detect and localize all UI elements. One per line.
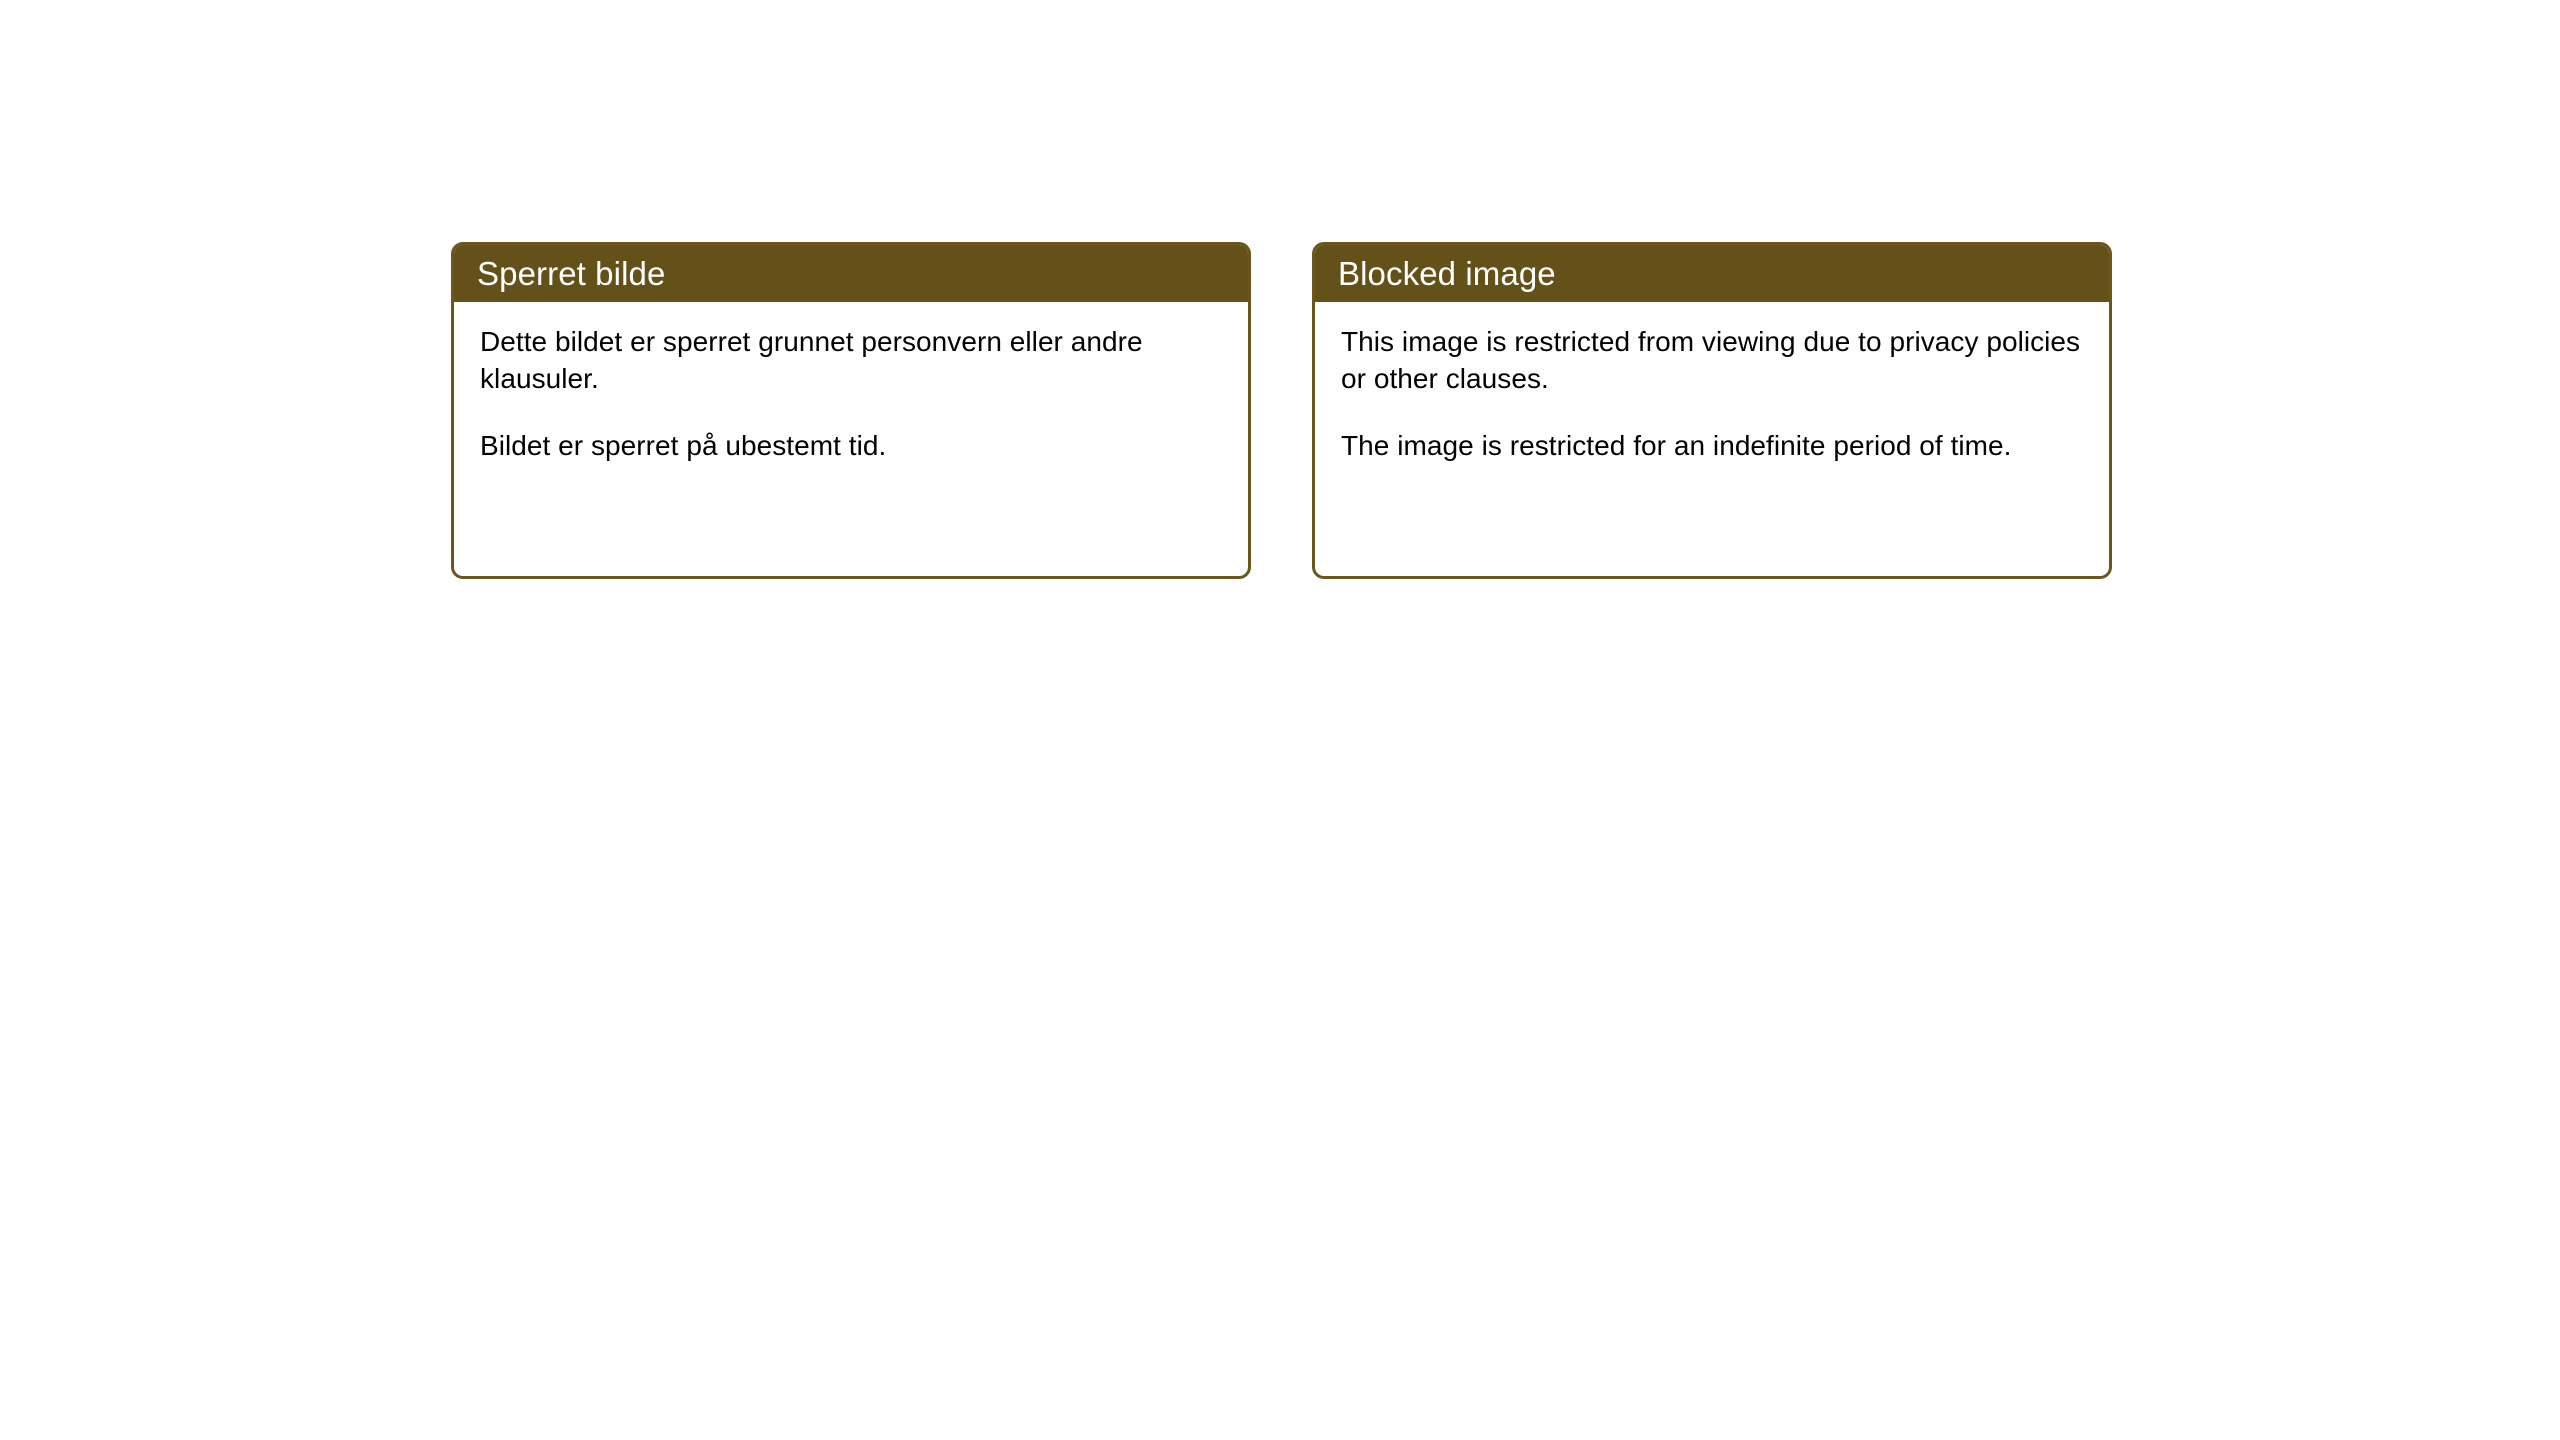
card-paragraph-restriction-reason-en: This image is restricted from viewing du…: [1341, 324, 2083, 397]
card-body-nb: Dette bildet er sperret grunnet personve…: [454, 302, 1248, 465]
blocked-image-notice-card-en: Blocked image This image is restricted f…: [1312, 242, 2112, 579]
card-paragraph-restriction-duration-nb: Bildet er sperret på ubestemt tid.: [480, 428, 1222, 465]
card-header-nb: Sperret bilde: [453, 244, 1249, 302]
card-title-nb: Sperret bilde: [477, 257, 665, 290]
card-title-en: Blocked image: [1338, 257, 1556, 290]
card-body-en: This image is restricted from viewing du…: [1315, 302, 2109, 465]
blocked-image-notice-card-nb: Sperret bilde Dette bildet er sperret gr…: [451, 242, 1251, 579]
card-paragraph-restriction-duration-en: The image is restricted for an indefinit…: [1341, 428, 2083, 465]
card-header-en: Blocked image: [1314, 244, 2110, 302]
card-paragraph-restriction-reason-nb: Dette bildet er sperret grunnet personve…: [480, 324, 1222, 397]
page-root: Sperret bilde Dette bildet er sperret gr…: [0, 0, 2560, 1440]
